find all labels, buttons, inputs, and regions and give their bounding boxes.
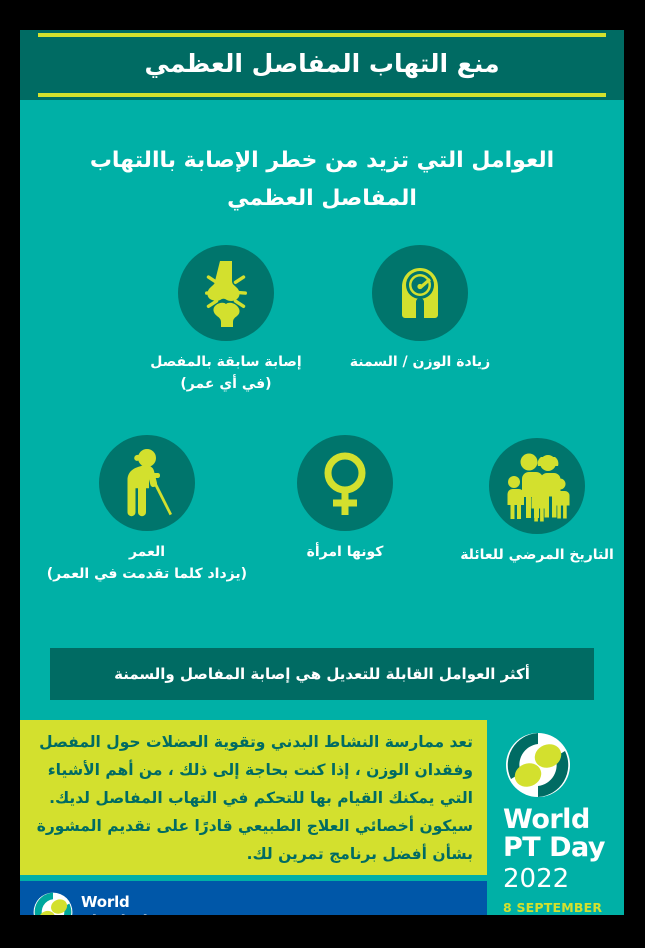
icon-disc bbox=[178, 245, 274, 341]
footer-brand-line-2: Physiotherapy bbox=[81, 912, 200, 915]
key-message-banner: أكثر العوامل القابلة للتعديل هي إصابة ال… bbox=[50, 648, 594, 700]
elderly-person-cane-icon bbox=[99, 435, 195, 531]
factor-sublabel: (يزداد كلما تقدمت في العمر) bbox=[47, 563, 247, 585]
icon-disc bbox=[297, 435, 393, 531]
footer-url[interactable]: www.world.physio/wptday bbox=[295, 914, 488, 915]
factor-label: العمر bbox=[47, 541, 247, 563]
advice-line: تعد ممارسة النشاط البدني وتقوية العضلات … bbox=[34, 728, 473, 756]
poster-header: منع التهاب المفاصل العظمي bbox=[20, 30, 624, 100]
factor-label: زيادة الوزن / السمنة bbox=[320, 351, 520, 373]
knee-joint-pain-icon bbox=[178, 245, 274, 341]
factor-obesity: زيادة الوزن / السمنة bbox=[320, 245, 520, 373]
subtitle: العوامل التي تزيد من خطر الإصابة باالتها… bbox=[80, 142, 564, 218]
icon-disc bbox=[489, 438, 585, 534]
footer-brand-line-1: World bbox=[81, 893, 130, 911]
wptd-world-text: World bbox=[503, 804, 590, 835]
wptd-year-text: 2022 bbox=[503, 864, 569, 894]
header-rule-bottom bbox=[38, 93, 606, 97]
factor-joint-injury: إصابة سابقة بالمفصل (في أي عمر) bbox=[126, 245, 326, 395]
icon-disc bbox=[372, 245, 468, 341]
advice-panel: تعد ممارسة النشاط البدني وتقوية العضلات … bbox=[20, 720, 487, 875]
factor-label: التاريخ المرضي للعائلة bbox=[437, 544, 624, 566]
subtitle-line-1: العوامل التي تزيد من خطر الإصابة باالتها… bbox=[80, 142, 564, 180]
factor-sublabel: (في أي عمر) bbox=[126, 373, 326, 395]
icon-disc bbox=[99, 435, 195, 531]
wptd-ptday-text: PT Day bbox=[503, 832, 605, 863]
advice-line: بشأن أفضل برنامج تمرين لك. bbox=[34, 840, 473, 868]
page-title: منع التهاب المفاصل العظمي bbox=[20, 42, 624, 86]
header-rule-top bbox=[38, 33, 606, 37]
factor-female: كونها امرأة bbox=[245, 435, 445, 563]
factor-label: كونها امرأة bbox=[245, 541, 445, 563]
factor-family-history: التاريخ المرضي للعائلة bbox=[437, 438, 624, 566]
advice-line: التي يمكنك القيام بها للتحكم في التهاب ا… bbox=[34, 784, 473, 812]
factor-label: إصابة سابقة بالمفصل bbox=[126, 351, 326, 373]
family-group-icon bbox=[489, 438, 585, 534]
footer-bar: World Physiotherapy www.world.physio/wpt… bbox=[20, 881, 487, 915]
world-pt-day-swirl-icon bbox=[505, 732, 571, 798]
advice-line: سيكون أخصائي العلاج الطبيعي قادرًا على ت… bbox=[34, 812, 473, 840]
world-pt-day-logo-block: World PT Day 2022 8 SEPTEMBER bbox=[487, 720, 624, 915]
wptd-date-text: 8 SEPTEMBER bbox=[503, 900, 602, 915]
female-gender-icon bbox=[297, 435, 393, 531]
key-message-text: أكثر العوامل القابلة للتعديل هي إصابة ال… bbox=[102, 665, 542, 683]
weight-scale-icon bbox=[372, 245, 468, 341]
world-physiotherapy-swirl-icon bbox=[33, 892, 73, 915]
factor-age: العمر (يزداد كلما تقدمت في العمر) bbox=[47, 435, 247, 585]
subtitle-line-2: المفاصل العظمي bbox=[80, 180, 564, 218]
poster-canvas: منع التهاب المفاصل العظمي العوامل التي ت… bbox=[20, 30, 624, 915]
advice-line: وفقدان الوزن ، إذا كنت بحاجة إلى ذلك ، م… bbox=[34, 756, 473, 784]
